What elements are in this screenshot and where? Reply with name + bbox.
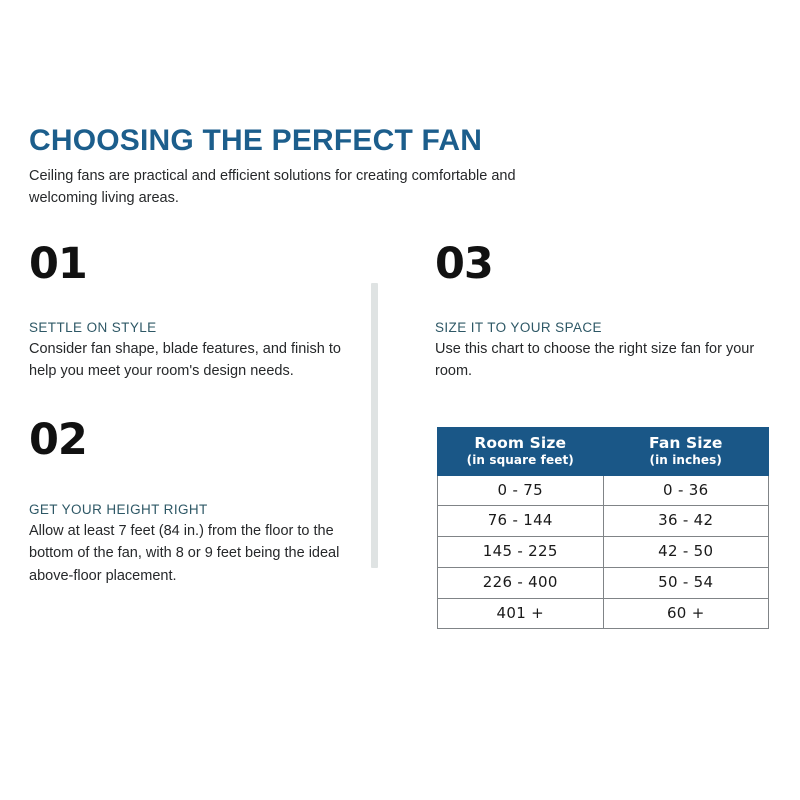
table-row: 145 - 225 42 - 50 <box>438 537 769 568</box>
infographic-page: CHOOSING THE PERFECT FAN Ceiling fans ar… <box>0 0 800 800</box>
cell-fan-size: 36 - 42 <box>603 506 769 537</box>
column-header-room-size: Room Size (in square feet) <box>438 428 604 476</box>
step-01-number: 01 <box>29 243 349 286</box>
size-table: Room Size (in square feet) Fan Size (in … <box>437 427 769 629</box>
step-02: 02 GET YOUR HEIGHT RIGHT Allow at least … <box>29 419 349 587</box>
cell-fan-size: 42 - 50 <box>603 537 769 568</box>
column-header-room-size-unit: (in square feet) <box>442 453 599 468</box>
cell-room-size: 145 - 225 <box>438 537 604 568</box>
cell-room-size: 401 + <box>438 598 604 629</box>
table-header-row: Room Size (in square feet) Fan Size (in … <box>438 428 769 476</box>
step-01-heading: SETTLE ON STYLE <box>29 320 349 335</box>
table-row: 226 - 400 50 - 54 <box>438 567 769 598</box>
page-intro-text: Ceiling fans are practical and efficient… <box>29 165 549 210</box>
cell-room-size: 226 - 400 <box>438 567 604 598</box>
step-02-body: Allow at least 7 feet (84 in.) from the … <box>29 520 349 587</box>
size-table-body: 0 - 75 0 - 36 76 - 144 36 - 42 145 - 225… <box>438 475 769 629</box>
table-row: 76 - 144 36 - 42 <box>438 506 769 537</box>
right-column: 03 SIZE IT TO YOUR SPACE Use this chart … <box>435 243 775 383</box>
column-header-fan-size-title: Fan Size <box>608 434 765 453</box>
column-divider <box>371 283 378 568</box>
step-01-body: Consider fan shape, blade features, and … <box>29 338 349 383</box>
step-02-number: 02 <box>29 419 349 462</box>
step-02-heading: GET YOUR HEIGHT RIGHT <box>29 502 349 517</box>
cell-fan-size: 0 - 36 <box>603 475 769 506</box>
page-header: CHOOSING THE PERFECT FAN Ceiling fans ar… <box>29 125 589 209</box>
fan-size-chart: Room Size (in square feet) Fan Size (in … <box>437 427 769 629</box>
step-01: 01 SETTLE ON STYLE Consider fan shape, b… <box>29 243 349 383</box>
cell-fan-size: 60 + <box>603 598 769 629</box>
column-header-fan-size: Fan Size (in inches) <box>603 428 769 476</box>
table-row: 0 - 75 0 - 36 <box>438 475 769 506</box>
column-header-fan-size-unit: (in inches) <box>608 453 765 468</box>
left-column: 01 SETTLE ON STYLE Consider fan shape, b… <box>29 243 349 587</box>
step-03-body: Use this chart to choose the right size … <box>435 338 775 383</box>
step-03-heading: SIZE IT TO YOUR SPACE <box>435 320 775 335</box>
step-03-number: 03 <box>435 243 775 286</box>
cell-room-size: 76 - 144 <box>438 506 604 537</box>
table-row: 401 + 60 + <box>438 598 769 629</box>
size-table-head: Room Size (in square feet) Fan Size (in … <box>438 428 769 476</box>
step-03: 03 SIZE IT TO YOUR SPACE Use this chart … <box>435 243 775 383</box>
page-title: CHOOSING THE PERFECT FAN <box>29 125 589 157</box>
cell-fan-size: 50 - 54 <box>603 567 769 598</box>
column-header-room-size-title: Room Size <box>442 434 599 453</box>
cell-room-size: 0 - 75 <box>438 475 604 506</box>
